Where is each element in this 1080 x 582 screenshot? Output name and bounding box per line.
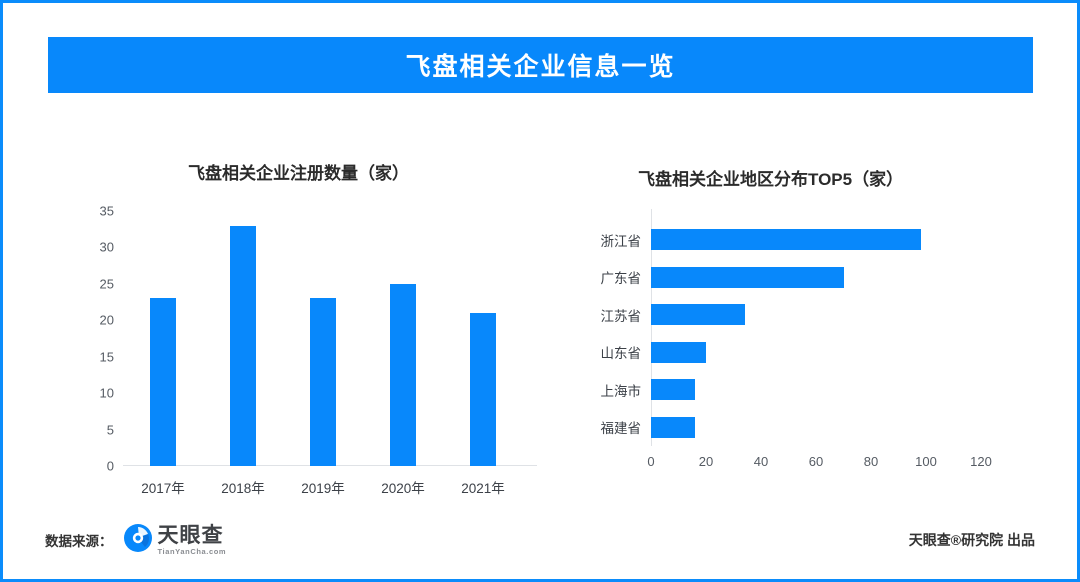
- page-title: 飞盘相关企业信息一览: [405, 47, 675, 83]
- column-chart-y-tick: 20: [100, 313, 114, 328]
- bar-chart-bar: [651, 379, 695, 400]
- column-chart-y-tick: 5: [107, 422, 114, 437]
- bar-chart-category-label: 江苏省: [601, 305, 642, 325]
- bar-chart-x-tick: 60: [809, 454, 823, 469]
- column-chart-bar: [390, 284, 416, 466]
- bar-chart-category-label: 福建省: [601, 417, 642, 437]
- bar-chart-category-label: 上海市: [601, 380, 642, 400]
- column-chart-x-label: 2021年: [461, 477, 505, 497]
- bar-chart-row: 上海市: [651, 379, 981, 400]
- bar-chart-x-tick: 20: [699, 454, 713, 469]
- column-chart-x-label: 2017年: [141, 477, 185, 497]
- column-chart-item: 2017年: [123, 211, 203, 466]
- bar-chart-category-label: 山东省: [601, 342, 642, 362]
- bar-chart-category-label: 广东省: [601, 267, 642, 287]
- bar-chart-bar: [651, 304, 745, 325]
- bar-chart-x-tick: 80: [864, 454, 878, 469]
- bar-chart-plot-area: 浙江省广东省江苏省山东省上海市福建省 020406080100120: [651, 221, 981, 446]
- chart-title-regions: 飞盘相关企业地区分布TOP5（家）: [638, 165, 903, 190]
- column-chart-y-tick: 30: [100, 240, 114, 255]
- footer-source: 数据来源： 天眼查 TianYanCha.com: [45, 523, 226, 557]
- column-chart-y-tick: 0: [107, 459, 114, 474]
- logo-chinese-text: 天眼查: [158, 525, 227, 546]
- tianyancha-logo: 天眼查 TianYanCha.com: [123, 523, 227, 558]
- column-chart-bar: [230, 226, 256, 466]
- bar-chart-bar: [651, 229, 921, 250]
- column-chart-x-label: 2018年: [221, 477, 265, 497]
- column-chart-y-tick: 35: [100, 204, 114, 219]
- footer: 数据来源： 天眼查 TianYanCha.com 天眼查®研究院 出: [3, 523, 1077, 557]
- infographic-page: 飞盘相关企业信息一览 飞盘相关企业注册数量（家） 2017年2018年2019年…: [0, 0, 1080, 582]
- bar-chart-x-tick: 100: [915, 454, 937, 469]
- bar-chart-row: 山东省: [651, 342, 981, 363]
- bar-chart-row: 福建省: [651, 417, 981, 438]
- column-chart-y-tick: 25: [100, 276, 114, 291]
- logo-domain-text: TianYanCha.com: [158, 548, 227, 556]
- bar-chart-bar: [651, 267, 844, 288]
- column-chart-bar: [470, 313, 496, 466]
- column-chart-bar: [310, 298, 336, 466]
- source-label: 数据来源：: [45, 530, 113, 550]
- column-chart-bars: 2017年2018年2019年2020年2021年: [123, 211, 523, 466]
- footer-credit: 天眼查®研究院 出品: [909, 523, 1035, 557]
- column-chart-item: 2019年: [283, 211, 363, 466]
- column-chart-item: 2021年: [443, 211, 523, 466]
- column-chart-bar: [150, 298, 176, 466]
- bar-chart-bar: [651, 342, 706, 363]
- bar-chart-x-tick: 120: [970, 454, 992, 469]
- eye-aperture-icon: [123, 523, 153, 558]
- column-chart-item: 2018年: [203, 211, 283, 466]
- chart-panel-regions: 飞盘相关企业地区分布TOP5（家） 浙江省广东省江苏省山东省上海市福建省 020…: [573, 153, 1043, 503]
- bar-chart-bar: [651, 417, 695, 438]
- bar-chart-rows: 浙江省广东省江苏省山东省上海市福建省: [651, 221, 981, 446]
- bar-chart-x-tick: 40: [754, 454, 768, 469]
- bar-chart-row: 浙江省: [651, 229, 981, 250]
- column-chart-y-tick: 15: [100, 349, 114, 364]
- header-banner: 飞盘相关企业信息一览: [48, 37, 1033, 93]
- column-chart-plot-area: 2017年2018年2019年2020年2021年 05101520253035: [123, 211, 523, 466]
- column-chart-item: 2020年: [363, 211, 443, 466]
- bar-chart-row: 江苏省: [651, 304, 981, 325]
- bar-chart-x-axis: 020406080100120: [651, 446, 981, 470]
- bar-chart-row: 广东省: [651, 267, 981, 288]
- bar-chart-category-label: 浙江省: [601, 230, 642, 250]
- bar-chart-x-tick: 0: [647, 454, 654, 469]
- column-chart-x-label: 2019年: [301, 477, 345, 497]
- logo-wordmark: 天眼查 TianYanCha.com: [158, 525, 227, 556]
- chart-title-registrations: 飞盘相关企业注册数量（家）: [188, 159, 409, 184]
- column-chart-x-label: 2020年: [381, 477, 425, 497]
- chart-panel-registrations: 飞盘相关企业注册数量（家） 2017年2018年2019年2020年2021年 …: [63, 153, 553, 503]
- column-chart-y-tick: 10: [100, 386, 114, 401]
